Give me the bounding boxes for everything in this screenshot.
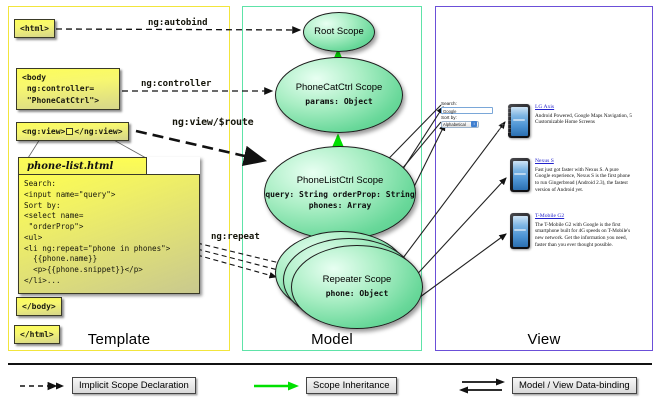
scope-phonelistctrl-name: PhoneListCtrl Scope bbox=[297, 175, 384, 186]
ngview-open-text: <ng:view> bbox=[22, 127, 65, 136]
legend: Implicit Scope Declaration Scope Inherit… bbox=[0, 363, 660, 405]
legend-item-data-binding: Model / View Data-binding bbox=[458, 377, 637, 394]
legend-label-data-binding: Model / View Data-binding bbox=[512, 377, 637, 394]
legend-divider bbox=[8, 363, 652, 365]
diagram-canvas: Template Model View bbox=[0, 0, 660, 405]
note-phone-list-html: phone-list.html Search: <input name="que… bbox=[18, 157, 200, 294]
search-input[interactable]: Google bbox=[441, 107, 493, 114]
dashed-arrow-icon bbox=[18, 380, 66, 392]
scope-repeater-props: phone: Object bbox=[326, 289, 389, 299]
phone-image-t-mobile-g2 bbox=[510, 213, 530, 249]
scope-repeater-name: Repeater Scope bbox=[323, 274, 392, 285]
double-arrow-icon bbox=[458, 378, 506, 394]
phone-snippet: The T-Mobile G2 with Google is the first… bbox=[535, 222, 635, 249]
scope-phonelistctrl-props: query: String orderProp: String phones: … bbox=[265, 190, 415, 211]
search-label: Search: bbox=[441, 101, 493, 107]
phone-text: Nexus S Fast just got faster with Nexus … bbox=[535, 158, 635, 194]
legend-item-implicit-scope: Implicit Scope Declaration bbox=[18, 377, 196, 394]
tag-body-open: <body ng:controller= "PhoneCatCtrl"> bbox=[16, 68, 120, 110]
scope-phonecatctrl-name: PhoneCatCtrl Scope bbox=[296, 82, 383, 93]
scope-phonelistctrl: PhoneListCtrl Scope query: String orderP… bbox=[264, 146, 416, 240]
sort-select[interactable]: Alphabetical ↕ bbox=[441, 121, 479, 128]
label-ng-view-route: ng:view/$route bbox=[172, 117, 254, 128]
tag-ngview: <ng:view></ng:view> bbox=[16, 122, 129, 141]
phone-name-link[interactable]: T-Mobile G2 bbox=[535, 213, 635, 219]
scope-phonecatctrl: PhoneCatCtrl Scope params: Object bbox=[275, 57, 403, 133]
panel-label-model: Model bbox=[243, 331, 421, 348]
scope-repeater: Repeater Scope phone: Object bbox=[291, 245, 423, 329]
sort-select-value: Alphabetical bbox=[443, 121, 466, 128]
phone-list-item[interactable]: Nexus S Fast just got faster with Nexus … bbox=[510, 158, 635, 194]
label-ng-autobind: ng:autobind bbox=[148, 18, 208, 28]
phone-text: LG Axis Android Powered, Google Maps Nav… bbox=[535, 104, 635, 138]
slide-keyboard-icon bbox=[496, 107, 512, 133]
phone-snippet: Android Powered, Google Maps Navigation,… bbox=[535, 113, 635, 127]
tag-html-close: </html> bbox=[14, 325, 60, 344]
phone-text: T-Mobile G2 The T-Mobile G2 with Google … bbox=[535, 213, 635, 249]
phone-name-link[interactable]: Nexus S bbox=[535, 158, 635, 164]
scope-phonecatctrl-props: params: Object bbox=[305, 97, 372, 107]
note-code: Search: <input name="query"> Sort by: <s… bbox=[18, 174, 200, 294]
view-search-form: Search: Google Sort by: Alphabetical ↕ bbox=[441, 101, 493, 128]
ngview-close-text: </ng:view> bbox=[74, 127, 122, 136]
phone-snippet: Fast just got faster with Nexus S. A pur… bbox=[535, 167, 635, 194]
phone-name-link[interactable]: LG Axis bbox=[535, 104, 635, 110]
legend-label-implicit-scope: Implicit Scope Declaration bbox=[72, 377, 196, 394]
legend-item-scope-inheritance: Scope Inheritance bbox=[252, 377, 397, 394]
label-ng-controller: ng:controller bbox=[141, 79, 211, 89]
scope-root: Root Scope bbox=[303, 12, 375, 52]
note-title: phone-list.html bbox=[18, 157, 147, 174]
tag-body-close: </body> bbox=[16, 297, 62, 316]
phone-list-item[interactable]: LG Axis Android Powered, Google Maps Nav… bbox=[508, 104, 635, 138]
green-arrow-icon bbox=[252, 380, 300, 392]
placeholder-square-icon bbox=[66, 128, 73, 135]
scope-root-name: Root Scope bbox=[314, 26, 364, 37]
phone-image-lg-axis bbox=[508, 104, 530, 138]
label-ng-repeat: ng:repeat bbox=[211, 232, 260, 242]
phone-image-nexus-s bbox=[510, 158, 530, 194]
panel-label-view: View bbox=[436, 331, 652, 348]
sort-label: Sort by: bbox=[441, 115, 493, 121]
chevron-down-icon: ↕ bbox=[471, 121, 477, 127]
legend-label-scope-inheritance: Scope Inheritance bbox=[306, 377, 397, 394]
tag-html-open: <html> bbox=[14, 19, 55, 38]
phone-list-item[interactable]: T-Mobile G2 The T-Mobile G2 with Google … bbox=[510, 213, 635, 249]
